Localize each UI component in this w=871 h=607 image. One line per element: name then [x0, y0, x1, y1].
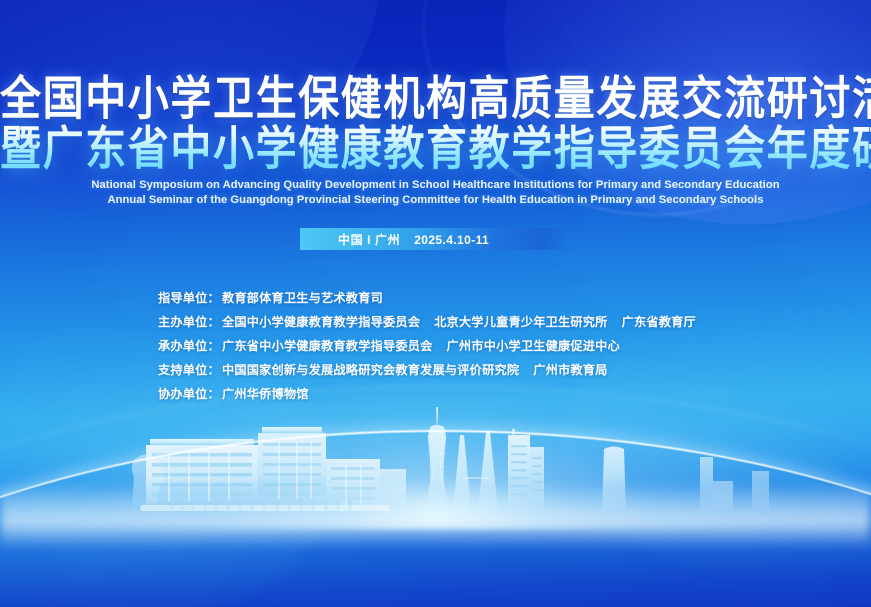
organizer-row: 支持单位： 中国国家创新与发展战略研究会教育发展与评价研究院 广州市教育局 — [158, 360, 696, 384]
organizer-values: 广州华侨博物馆 — [222, 384, 309, 402]
organizer-row: 主办单位： 全国中小学健康教育教学指导委员会 北京大学儿童青少年卫生研究所 广东… — [158, 312, 696, 336]
organizer-value: 教育部体育卫生与艺术教育司 — [222, 288, 383, 306]
event-location: 中国 I 广州 — [338, 231, 400, 248]
poster-title-secondary: 暨广东省中小学健康教育教学指导委员会年度研讨活动 — [0, 124, 871, 175]
poster-subtitle-primary: National Symposium on Advancing Quality … — [0, 178, 871, 193]
date-location-banner-inner: 中国 I 广州 2025.4.10-11 — [338, 231, 489, 248]
poster-content: 全国中小学卫生保健机构高质量发展交流研讨活动 暨广东省中小学健康教育教学指导委员… — [0, 0, 871, 607]
title-block: 全国中小学卫生保健机构高质量发展交流研讨活动 暨广东省中小学健康教育教学指导委员… — [0, 74, 871, 169]
organizer-value: 北京大学儿童青少年卫生研究所 — [434, 312, 607, 330]
organizer-value: 广东省中小学健康教育教学指导委员会 — [222, 336, 433, 354]
organizer-values: 教育部体育卫生与艺术教育司 — [222, 288, 383, 306]
poster-title-primary: 全国中小学卫生保健机构高质量发展交流研讨活动 — [0, 74, 871, 125]
organizer-value: 广州市教育局 — [533, 360, 607, 378]
organizer-value: 广东省教育厅 — [622, 312, 696, 330]
organizer-value: 全国中小学健康教育教学指导委员会 — [222, 312, 420, 330]
event-date: 2025.4.10-11 — [414, 233, 489, 247]
organizer-value: 广州华侨博物馆 — [222, 384, 309, 402]
subtitle-block: National Symposium on Advancing Quality … — [0, 178, 871, 208]
organizer-label: 主办单位： — [158, 312, 220, 330]
organizer-label: 协办单位： — [158, 384, 220, 402]
organizer-value: 广州市中小学卫生健康促进中心 — [447, 336, 620, 354]
organizer-row: 协办单位： 广州华侨博物馆 — [158, 384, 696, 408]
organizer-label: 支持单位： — [158, 360, 220, 378]
poster-subtitle-secondary: Annual Seminar of the Guangdong Provinci… — [0, 193, 871, 208]
organizer-values: 广东省中小学健康教育教学指导委员会 广州市中小学卫生健康促进中心 — [222, 336, 620, 354]
organizer-list: 指导单位： 教育部体育卫生与艺术教育司 主办单位： 全国中小学健康教育教学指导委… — [158, 288, 696, 408]
organizer-row: 指导单位： 教育部体育卫生与艺术教育司 — [158, 288, 696, 312]
organizer-label: 承办单位： — [158, 336, 220, 354]
organizer-values: 中国国家创新与发展战略研究会教育发展与评价研究院 广州市教育局 — [222, 360, 608, 378]
organizer-row: 承办单位： 广东省中小学健康教育教学指导委员会 广州市中小学卫生健康促进中心 — [158, 336, 696, 360]
organizer-label: 指导单位： — [158, 288, 220, 306]
organizer-value: 中国国家创新与发展战略研究会教育发展与评价研究院 — [222, 360, 519, 378]
date-location-banner: 中国 I 广州 2025.4.10-11 — [300, 228, 570, 250]
conference-poster: 全国中小学卫生保健机构高质量发展交流研讨活动 暨广东省中小学健康教育教学指导委员… — [0, 0, 871, 607]
organizer-values: 全国中小学健康教育教学指导委员会 北京大学儿童青少年卫生研究所 广东省教育厅 — [222, 312, 696, 330]
